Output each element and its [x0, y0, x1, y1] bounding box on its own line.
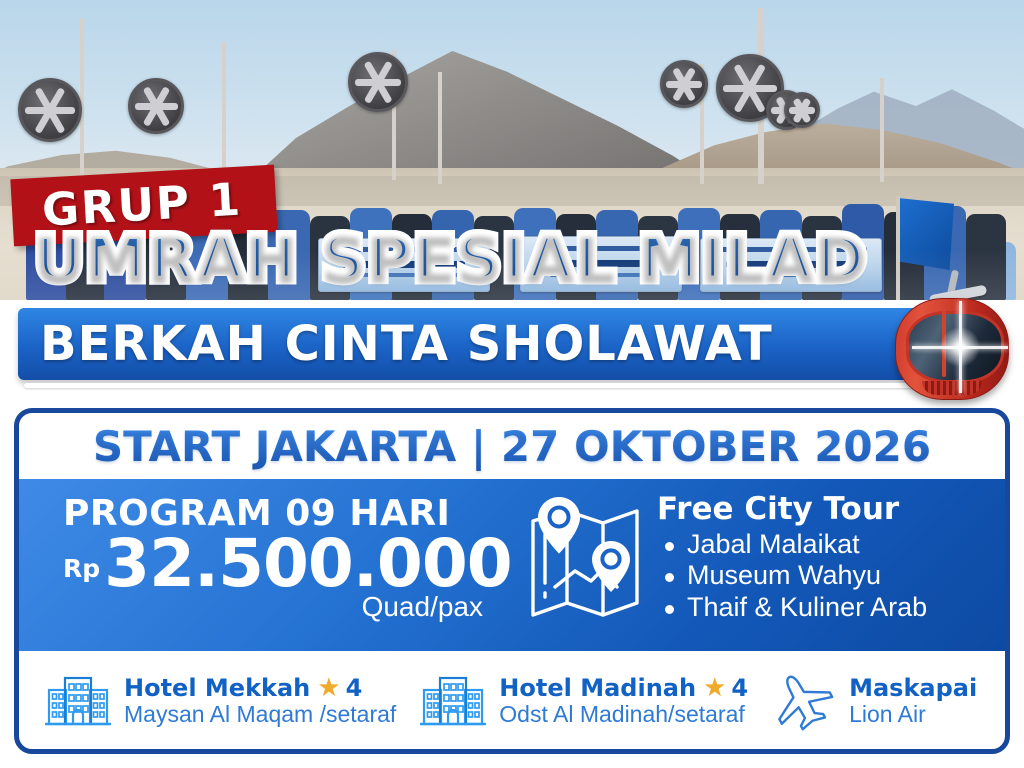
hotel-building-icon: [43, 672, 113, 730]
star-icon: ★: [703, 675, 726, 701]
city-tour-text: Free City Tour Jabal Malaikat Museum Wah…: [657, 491, 927, 623]
star-icon: ★: [317, 675, 340, 701]
facility-subtitle: Maysan Al Maqam /setaraf: [124, 701, 396, 728]
facility-title: Hotel Mekkah ★ 4: [124, 674, 396, 702]
price-amount: 32.500.000: [104, 532, 512, 597]
facility-subtitle: Odst Al Madinah/setaraf: [499, 701, 748, 728]
poster-headline: UMRAH SPESIAL MILAD: [34, 228, 867, 290]
star-count: 4: [731, 674, 748, 702]
cable-car-gondola-icon: [893, 272, 1011, 404]
facility-airline: Maskapai Lion Air: [766, 670, 977, 732]
misting-fan-icon: [784, 92, 820, 128]
light-pole: [222, 42, 226, 182]
price-row: Rp 32.500.000: [63, 532, 519, 597]
facility-title-label: Maskapai: [849, 674, 977, 702]
light-pole: [880, 78, 884, 182]
facility-title: Maskapai: [849, 674, 977, 702]
hotel-building-icon: [418, 672, 488, 730]
misting-fan-icon: [660, 60, 708, 108]
list-item: Museum Wahyu: [657, 560, 927, 591]
misting-fan-icon: [18, 78, 82, 142]
facility-title: Hotel Madinah ★ 4: [499, 674, 748, 702]
city-tour-title: Free City Tour: [657, 491, 927, 527]
date-bar: START JAKARTA | 27 OKTOBER 2026: [19, 413, 1005, 479]
light-pole: [80, 18, 84, 178]
city-tour-block: Free City Tour Jabal Malaikat Museum Wah…: [519, 479, 1005, 651]
facility-hotel-madinah: Hotel Madinah ★ 4 Odst Al Madinah/setara…: [418, 672, 748, 730]
airplane-icon: [766, 670, 838, 732]
facility-title-label: Hotel Madinah: [499, 674, 696, 702]
misting-fan-icon: [128, 78, 184, 134]
gondola-skirt: [922, 381, 982, 395]
facility-subtitle: Lion Air: [849, 701, 977, 728]
city-tour-list: Jabal Malaikat Museum Wahyu Thaif & Kuli…: [657, 529, 927, 623]
date-bar-text: START JAKARTA | 27 OKTOBER 2026: [93, 422, 931, 471]
poster-subtitle: BERKAH CINTA SHOLAWAT: [40, 312, 773, 376]
lens-flare: [937, 324, 983, 370]
list-item: Jabal Malaikat: [657, 529, 927, 560]
facility-text: Hotel Mekkah ★ 4 Maysan Al Maqam /setara…: [124, 674, 396, 728]
currency-label: Rp: [63, 554, 100, 583]
price-block: PROGRAM 09 HARI Rp 32.500.000 Quad/pax: [19, 479, 519, 651]
list-item: Thaif & Kuliner Arab: [657, 592, 927, 623]
light-pole: [438, 72, 442, 184]
facilities-row: Hotel Mekkah ★ 4 Maysan Al Maqam /setara…: [19, 651, 1005, 751]
facility-text: Maskapai Lion Air: [849, 674, 977, 728]
offer-blue-panel: PROGRAM 09 HARI Rp 32.500.000 Quad/pax: [19, 479, 1005, 651]
misting-fan-icon: [348, 52, 408, 112]
map-icon: [525, 491, 645, 623]
poster-headline-text: UMRAH SPESIAL MILAD: [34, 222, 867, 295]
facility-hotel-mekkah: Hotel Mekkah ★ 4 Maysan Al Maqam /setara…: [43, 672, 396, 730]
offer-card: START JAKARTA | 27 OKTOBER 2026 PROGRAM …: [14, 408, 1010, 754]
umrah-promo-poster: GRUP 1 UMRAH SPESIAL MILAD BERKAH CINTA …: [0, 0, 1024, 768]
star-count: 4: [346, 674, 363, 702]
facility-text: Hotel Madinah ★ 4 Odst Al Madinah/setara…: [499, 674, 748, 728]
facility-title-label: Hotel Mekkah: [124, 674, 310, 702]
